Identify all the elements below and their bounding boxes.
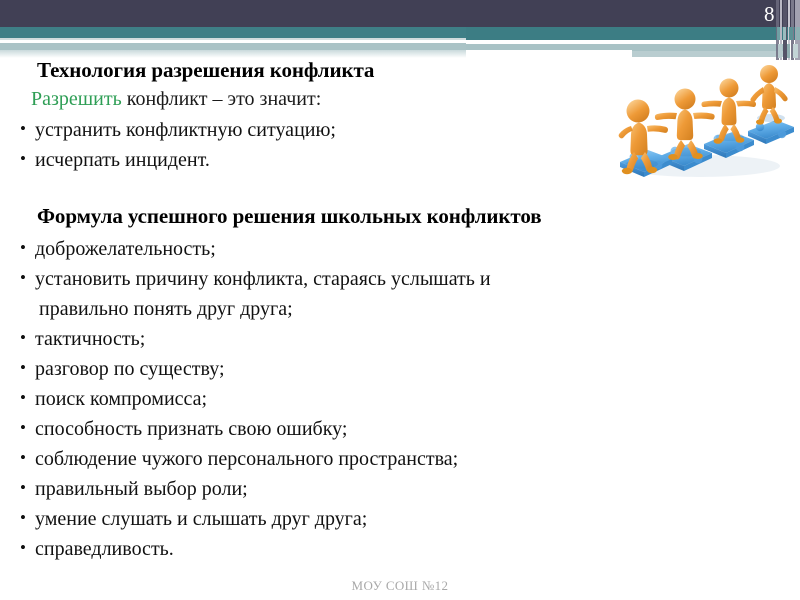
- lead-line: Разрешить конфликт – это значит:: [31, 85, 680, 113]
- header-stripe-teal: [783, 27, 786, 40]
- header-stripe-teal: [777, 27, 780, 40]
- section-spacer: [0, 175, 680, 201]
- header-stripe-pale: [778, 44, 782, 58]
- person-figure: [750, 65, 787, 125]
- header-band-dark: [0, 0, 800, 27]
- person-figure: [701, 79, 756, 144]
- list-item: установить причину конфликта, стараясь у…: [20, 264, 680, 294]
- page-title: Технология разрешения конфликта: [37, 56, 680, 84]
- header-band-pale-left: [0, 43, 466, 50]
- list-item: разговор по существу;: [20, 354, 680, 384]
- list-item: соблюдение чужого персонального простран…: [20, 444, 680, 474]
- list-item: исчерпать инцидент.: [20, 145, 680, 175]
- page-number: 8: [764, 2, 775, 26]
- bullet-list-intro: устранить конфликтную ситуацию; исчерпат…: [0, 115, 680, 175]
- header-band-teal-right: [466, 27, 800, 40]
- header-stripe-teal: [796, 27, 800, 40]
- list-item: способность признать свою ошибку;: [20, 414, 680, 444]
- list-item: доброжелательность;: [20, 234, 680, 264]
- slide-content: Технология разрешения конфликта Разрешит…: [0, 56, 680, 564]
- section-heading: Формула успешного решения школьных конфл…: [37, 201, 680, 231]
- list-item: устранить конфликтную ситуацию;: [20, 115, 680, 145]
- list-item-continuation: правильно понять друг друга;: [20, 294, 680, 324]
- slide: 8: [0, 0, 800, 600]
- list-item: справедливость.: [20, 534, 680, 564]
- bullet-list-formula: доброжелательность; установить причину к…: [0, 234, 680, 564]
- slide-footer: МОУ СОШ №12: [0, 578, 800, 594]
- header-stripe-pale: [793, 44, 798, 58]
- list-item: правильный выбор роли;: [20, 474, 680, 504]
- list-item: умение слушать и слышать друг друга;: [20, 504, 680, 534]
- puzzle-piece: [748, 120, 794, 144]
- header-stripe-pale: [787, 44, 790, 58]
- header-stripe-teal: [789, 27, 793, 40]
- list-item: поиск компромисса;: [20, 384, 680, 414]
- lead-accent-word: Разрешить: [31, 88, 122, 110]
- list-item: тактичность;: [20, 324, 680, 354]
- lead-rest-text: конфликт – это значит:: [122, 88, 322, 110]
